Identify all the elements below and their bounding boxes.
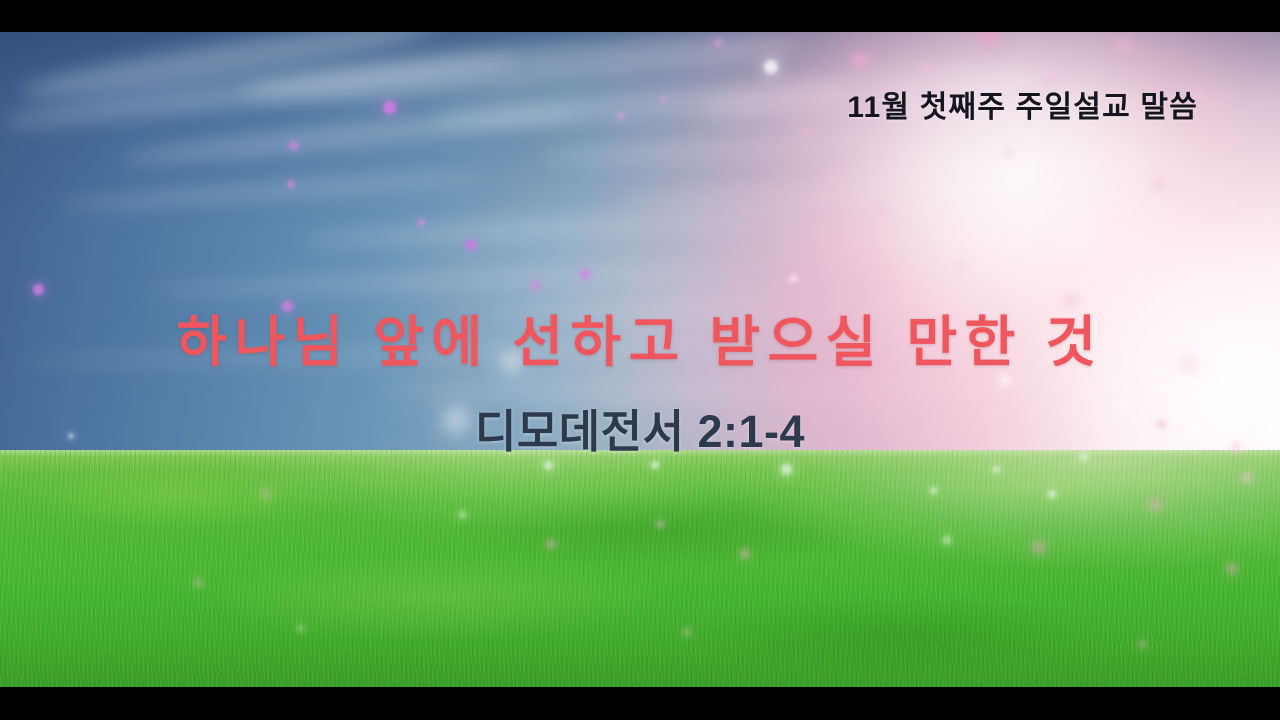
grass-texture-light <box>0 450 1280 687</box>
letterbox-bar-top <box>0 0 1280 32</box>
grass-field <box>0 450 1280 687</box>
grass-texture-dark <box>0 450 1280 687</box>
sermon-title-slide: 11월 첫째주 주일설교 말씀 하나님 앞에 선하고 받으실 만한 것 디모데전… <box>0 0 1280 720</box>
grass-patch-shading <box>0 450 1280 687</box>
letterbox-bar-bottom <box>0 687 1280 720</box>
sermon-series-label: 11월 첫째주 주일설교 말씀 <box>847 82 1198 126</box>
grass-light-wash <box>0 450 1280 687</box>
sermon-title: 하나님 앞에 선하고 받으실 만한 것 <box>0 297 1280 377</box>
scripture-reference: 디모데전서 2:1-4 <box>0 395 1280 460</box>
